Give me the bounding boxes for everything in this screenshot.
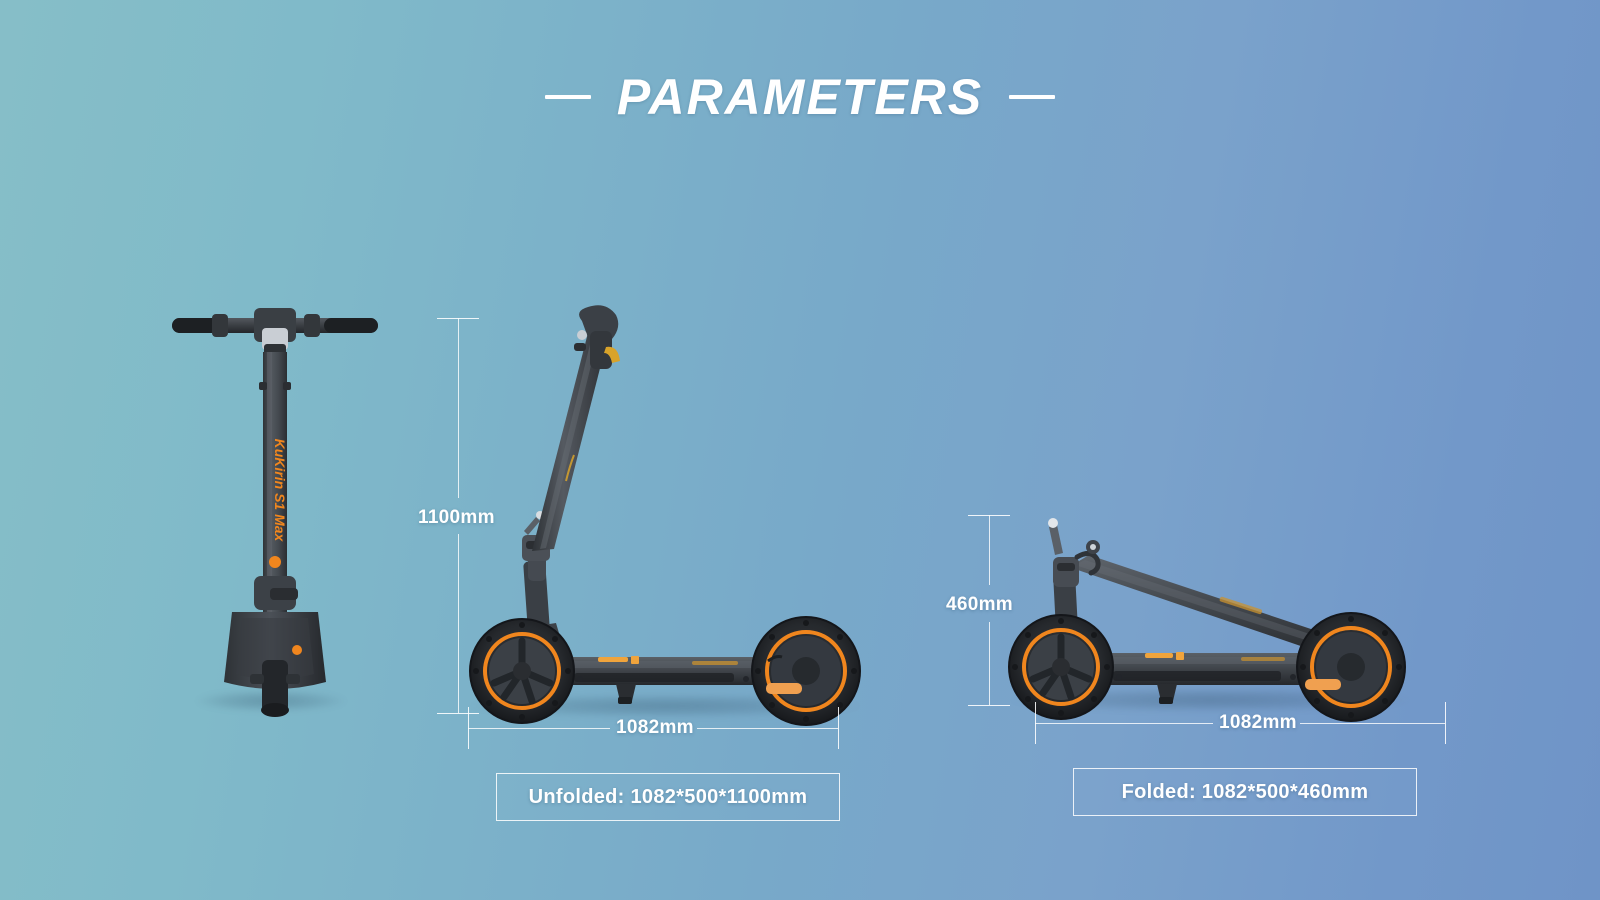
- parameters-page: PARAMETERS: [0, 0, 1600, 900]
- folded-height-line-lower: [989, 622, 990, 705]
- folded-width-label: 1082mm: [1219, 712, 1297, 734]
- width-line-right: [697, 728, 838, 729]
- folded-width-line-right: [1300, 723, 1445, 724]
- folded-height-line-upper: [989, 515, 990, 585]
- folded-height-tick-bottom: [968, 705, 1010, 706]
- height-line-upper: [458, 318, 459, 498]
- title-dash-right: [1009, 95, 1055, 99]
- height-tick-bottom: [437, 713, 479, 714]
- unfolded-scooter: [470, 305, 870, 705]
- title-dash-left: [545, 95, 591, 99]
- width-line-left: [468, 728, 610, 729]
- folded-caption-box: Folded: 1082*500*460mm: [1073, 768, 1417, 816]
- page-title: PARAMETERS: [617, 72, 983, 122]
- front-view-brand-text: KuKirin S1 Max: [272, 439, 288, 543]
- unfolded-width-label: 1082mm: [616, 717, 694, 739]
- width-tick-right: [838, 707, 839, 749]
- unfolded-caption-text: Unfolded: 1082*500*1100mm: [529, 786, 808, 809]
- folded-caption-text: Folded: 1082*500*460mm: [1122, 781, 1369, 804]
- folded-height-label: 460mm: [946, 594, 1013, 616]
- height-line-lower: [458, 534, 459, 713]
- unfolded-caption-box: Unfolded: 1082*500*1100mm: [496, 773, 840, 821]
- folded-scooter: [1005, 505, 1425, 725]
- folded-width-tick-right: [1445, 702, 1446, 744]
- page-title-block: PARAMETERS: [0, 72, 1600, 122]
- front-view-scooter: KuKirin S1 Max: [150, 300, 400, 720]
- folded-width-line-left: [1035, 723, 1213, 724]
